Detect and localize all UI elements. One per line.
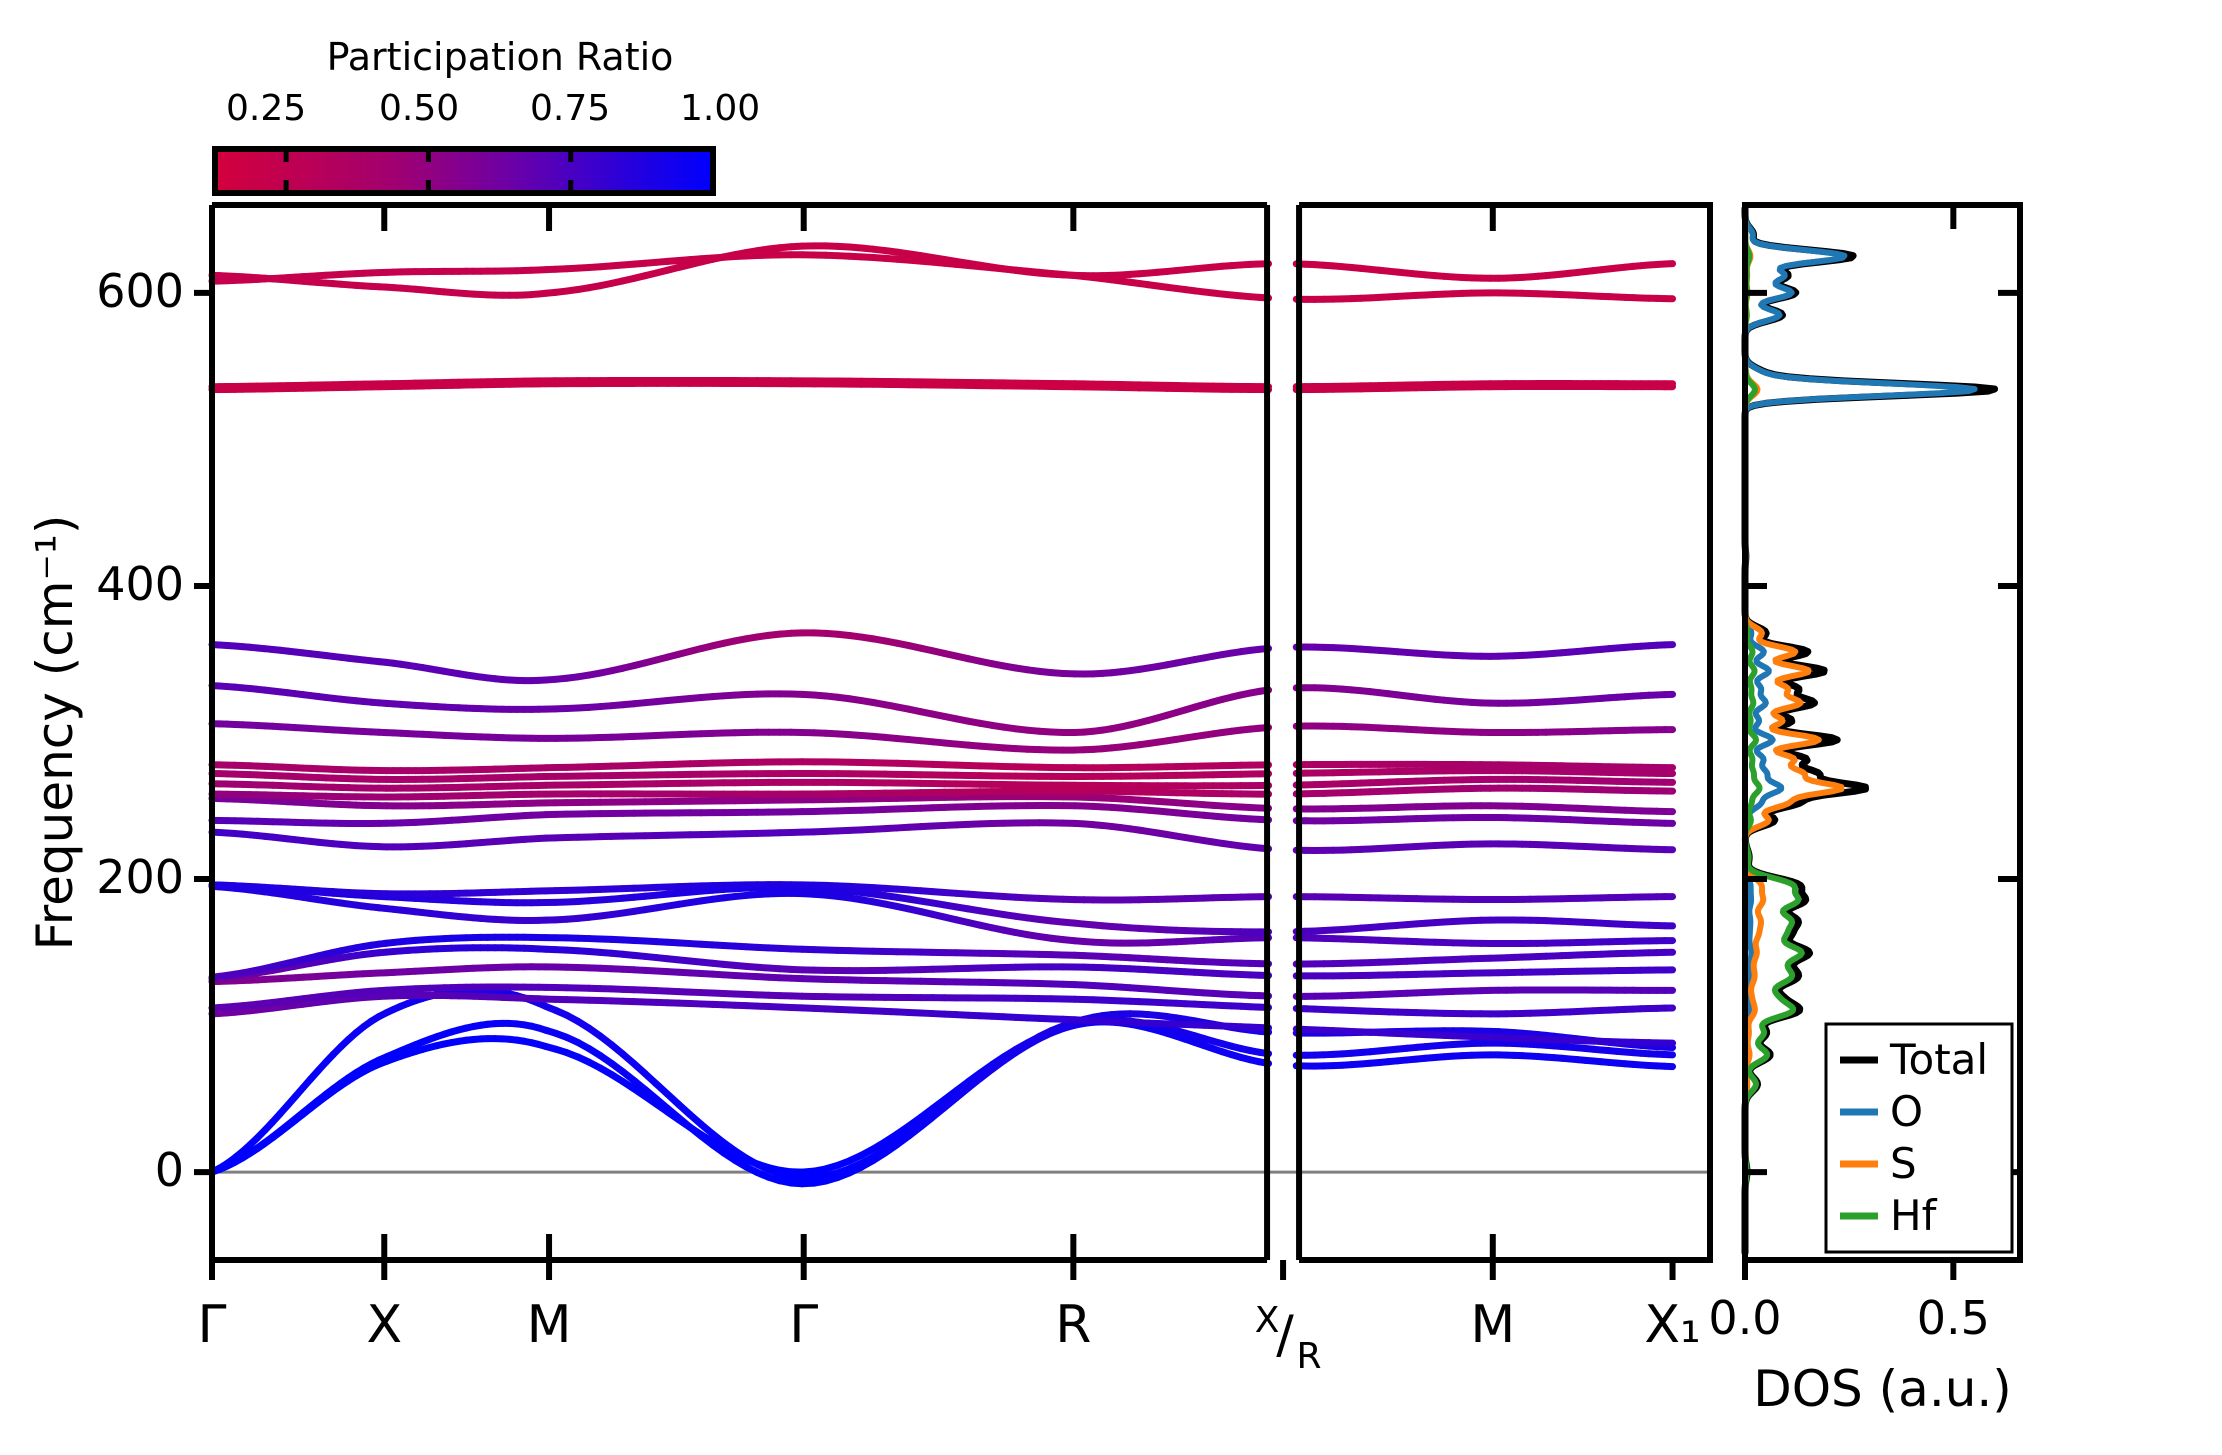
colorbar-tick-2: 0.75 [530, 88, 610, 129]
band-x-tick-label: M [1470, 1295, 1515, 1355]
colorbar-tick-3: 1.00 [680, 88, 760, 129]
dos-legend[interactable]: TotalOSHf [1826, 1024, 2012, 1252]
legend-label-o: O [1890, 1087, 1923, 1136]
colorbar-tick-0: 0.25 [226, 88, 306, 129]
colorbar-ticklabels: 0.25 0.50 0.75 1.00 [0, 88, 1100, 134]
svg-text:/: / [1276, 1305, 1294, 1365]
band-x-tick-label: X/R [1255, 1300, 1322, 1377]
legend-label-total: Total [1889, 1035, 1988, 1084]
dos-panel[interactable]: 0.00.5DOS (a.u.)TotalOSHf [1700, 190, 2222, 1455]
dos-x-tick-label: 0.5 [1917, 1291, 1990, 1345]
legend-label-s: S [1890, 1139, 1917, 1188]
band-x-tick-label: X₁ [1644, 1295, 1700, 1355]
legend-label-hf: Hf [1890, 1191, 1938, 1240]
colorbar-gradient[interactable] [212, 146, 716, 196]
colorbar-tick-1: 0.50 [379, 88, 459, 129]
band-y-ticks: 0200400600 [96, 264, 212, 1197]
band-y-axis-label: Frequency (cm⁻¹) [26, 515, 84, 951]
band-x-tick-label: Γ [789, 1295, 818, 1355]
colorbar-title: Participation Ratio [290, 35, 710, 79]
figure-canvas: Participation Ratio 0.25 0.50 0.75 1.00 … [0, 0, 2222, 1455]
band-x-tick-label: X [366, 1295, 402, 1355]
band-x-tick-label: Γ [198, 1295, 227, 1355]
band-x-tick-label: M [527, 1295, 572, 1355]
band-x-tick-label: R [1055, 1295, 1091, 1355]
band-y-tick-label: 600 [96, 264, 184, 318]
dos-x-tick-label: 0.0 [1708, 1291, 1781, 1345]
band-structure-panel[interactable]: 0200400600Frequency (cm⁻¹)ΓXMΓRX/RMX₁ [0, 190, 1760, 1455]
band-y-tick-label: 200 [96, 850, 184, 904]
band-y-tick-label: 400 [96, 557, 184, 611]
band-curves [212, 246, 1673, 1184]
svg-text:R: R [1297, 1336, 1322, 1377]
band-y-tick-label: 0 [155, 1143, 184, 1197]
dos-x-axis-label: DOS (a.u.) [1753, 1360, 2012, 1418]
